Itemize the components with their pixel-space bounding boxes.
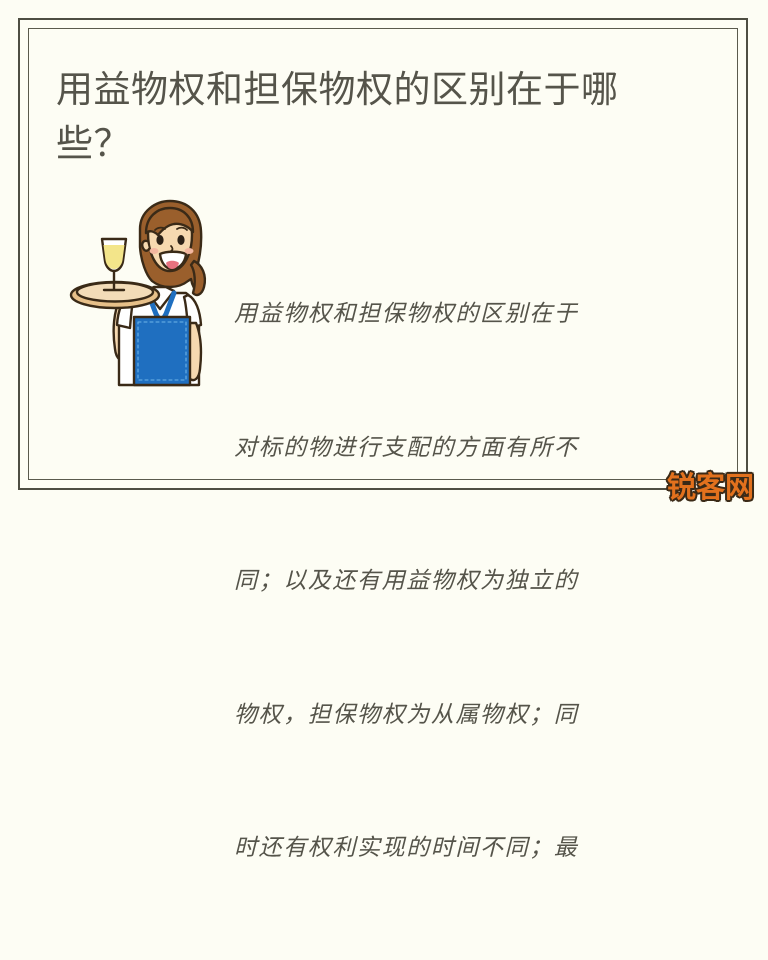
right-blush <box>185 248 194 254</box>
waitress-with-tray-icon <box>68 199 228 389</box>
body-line: 同；以及还有用益物权为独立的 <box>234 559 659 604</box>
body-line: 时还有权利实现的时间不同；最 <box>234 826 659 871</box>
site-watermark: 锐客网 <box>667 473 754 502</box>
body-text: 用益物权和担保物权的区别在于 对标的物进行支配的方面有所不 同；以及还有用益物权… <box>234 203 659 960</box>
left-blush <box>150 248 159 254</box>
apron-shape <box>134 317 190 385</box>
content-area: 用益物权和担保物权的区别在于 对标的物进行支配的方面有所不 同；以及还有用益物权… <box>56 195 676 445</box>
left-eye <box>156 235 163 245</box>
body-line: 对标的物进行支配的方面有所不 <box>234 426 659 471</box>
waitress-illustration <box>68 199 228 389</box>
page-title: 用益物权和担保物权的区别在于哪些？ <box>56 63 666 171</box>
page-root: 用益物权和担保物权的区别在于哪些？ <box>0 0 768 510</box>
right-eye <box>177 235 184 245</box>
body-line: 物权，担保物权为从属物权；同 <box>234 693 659 738</box>
body-line: 用益物权和担保物权的区别在于 <box>234 292 659 337</box>
